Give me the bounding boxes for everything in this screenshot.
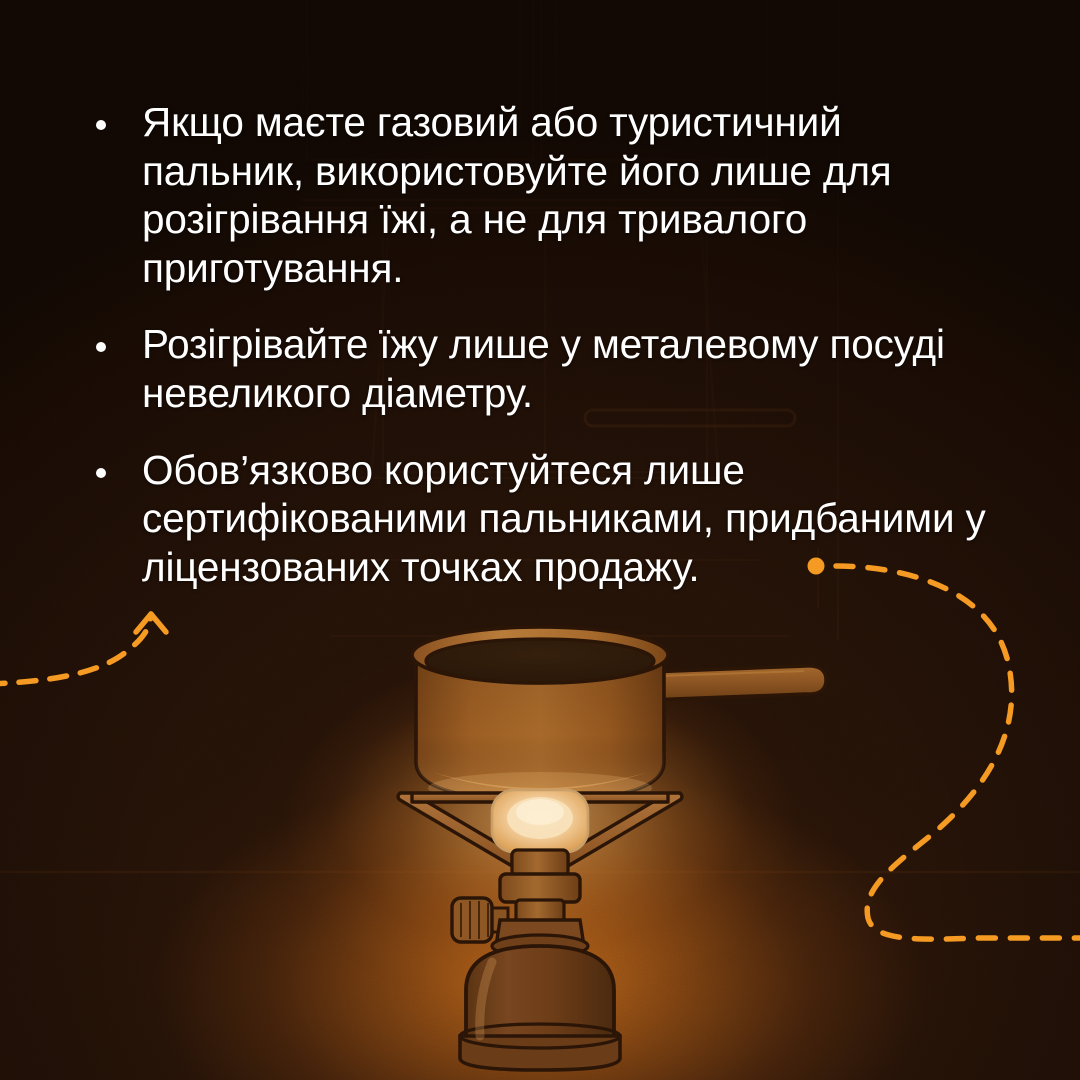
infographic-canvas: Якщо маєте газовий або туристичний пальн… <box>0 0 1080 1080</box>
bullet-text-1: Якщо маєте газовий або туристичний пальн… <box>142 98 996 292</box>
list-item: Розігрівайте їжу лише у металевому посуд… <box>96 320 996 417</box>
list-item: Обов’язково користуйтеся лише сертифіков… <box>96 446 996 592</box>
bullet-dot-icon <box>96 120 106 130</box>
bullet-list: Якщо маєте газовий або туристичний пальн… <box>96 98 996 591</box>
bullet-text-2: Розігрівайте їжу лише у металевому посуд… <box>142 320 996 417</box>
bullet-dot-icon <box>96 468 106 478</box>
list-item: Якщо маєте газовий або туристичний пальн… <box>96 98 996 292</box>
bullet-text-3: Обов’язково користуйтеся лише сертифіков… <box>142 446 996 592</box>
bullet-dot-icon <box>96 342 106 352</box>
